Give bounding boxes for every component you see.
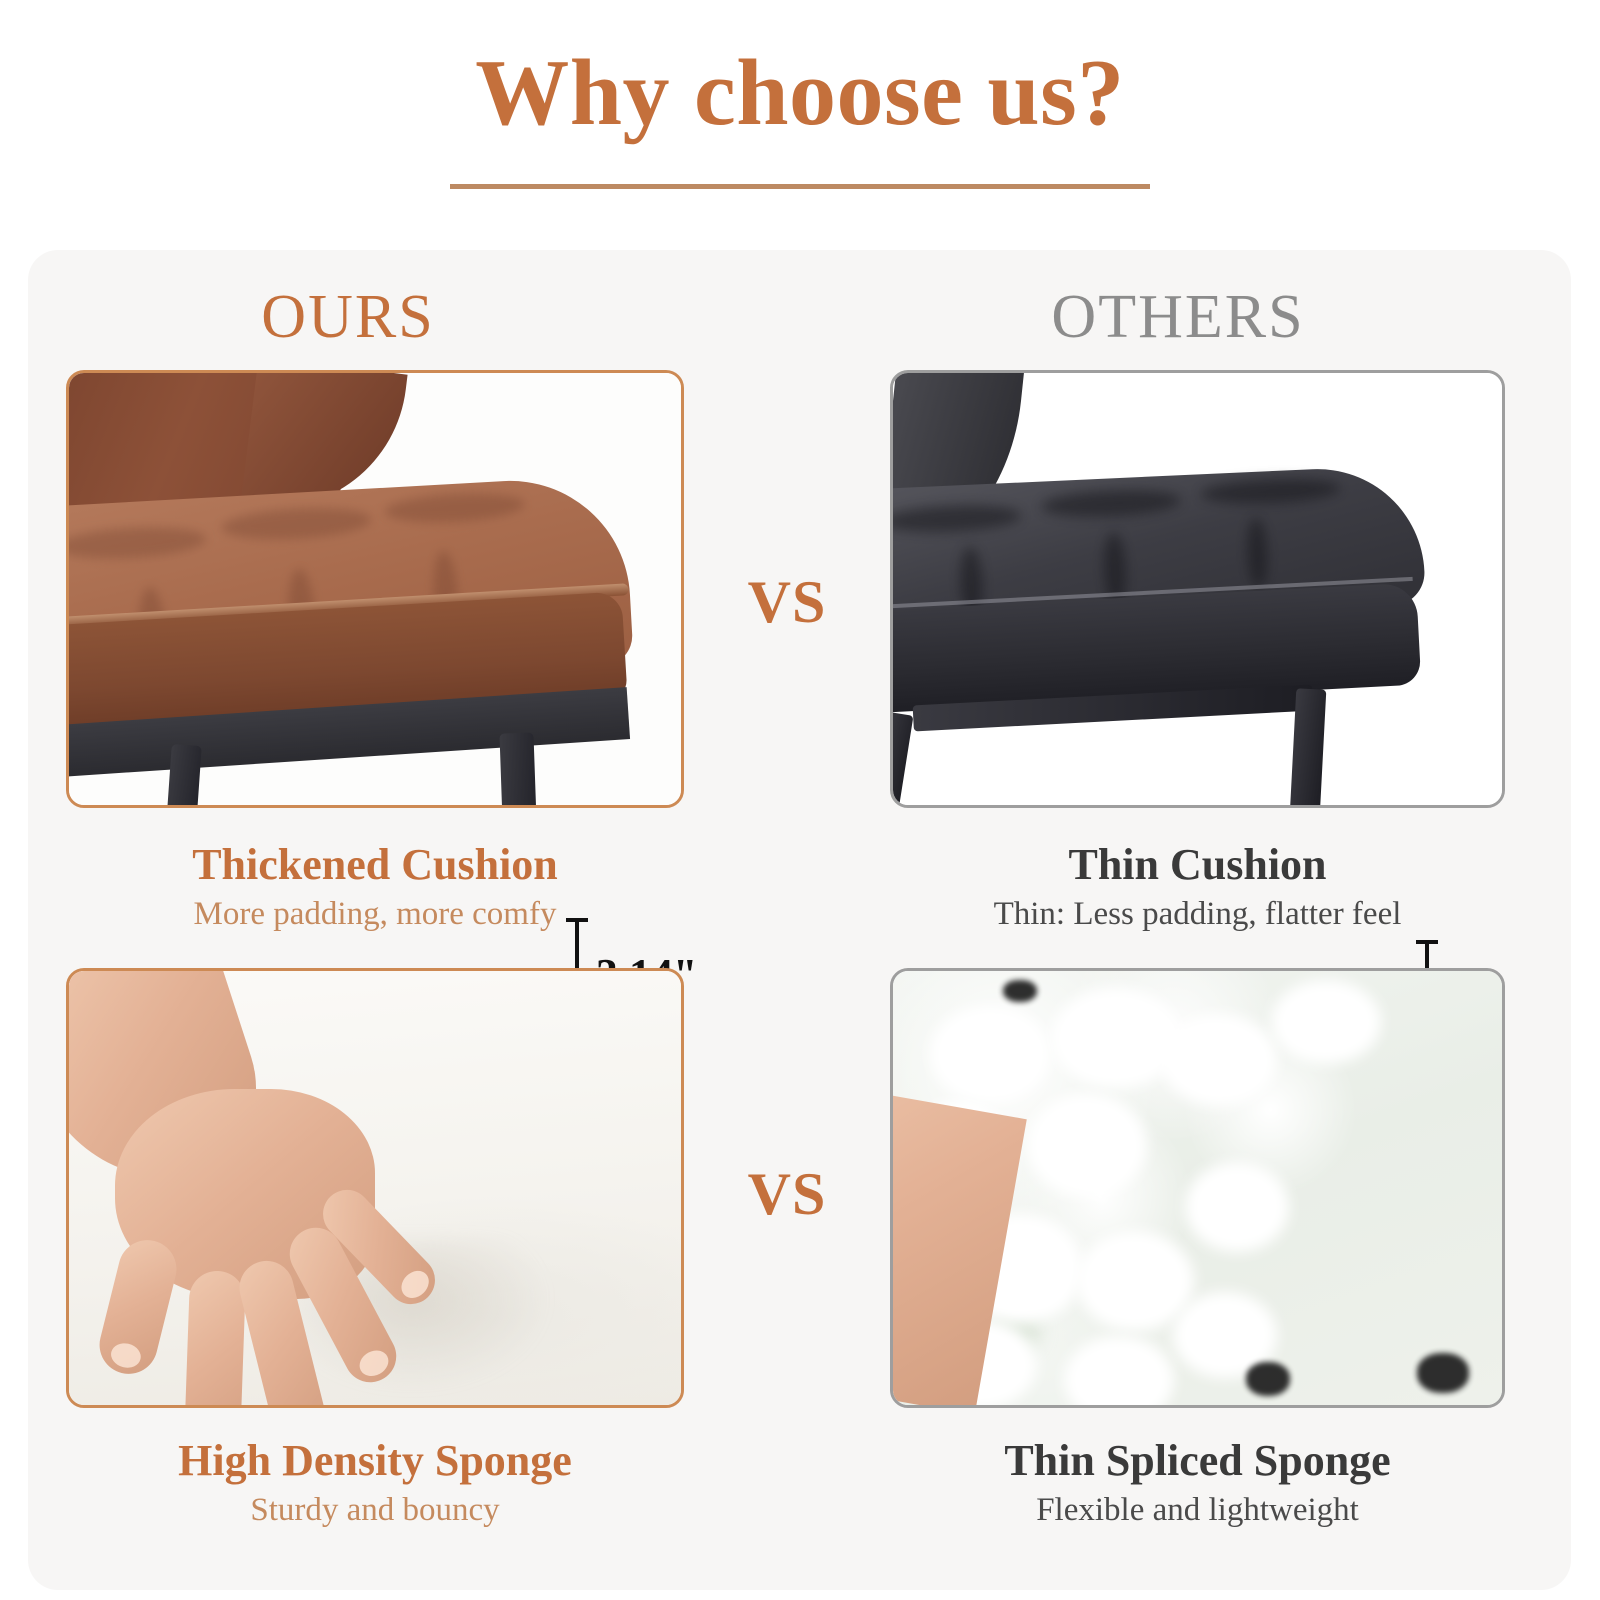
brown-chair-photo <box>69 373 681 805</box>
others-cushion-subtitle: Thin: Less padding, flatter feel <box>890 895 1505 935</box>
ours-sponge-subtitle: Sturdy and bouncy <box>66 1491 684 1531</box>
others-cushion-image-frame <box>890 370 1505 808</box>
column-header-others: OTHERS <box>858 282 1498 353</box>
ours-cushion-image-frame <box>66 370 684 808</box>
dense-foam-hand-photo <box>69 971 681 1405</box>
comparison-card: OURS OTHERS <box>28 250 1571 1590</box>
others-cushion-title: Thin Cushion <box>890 840 1505 889</box>
others-sponge-image-frame <box>890 968 1505 1408</box>
ours-cushion-caption: Thickened Cushion More padding, more com… <box>66 840 684 935</box>
comparison-row-cushion: 3.14" VS <box>28 370 1571 990</box>
comparison-row-sponge: VS <box>28 968 1571 1568</box>
ours-sponge-caption: High Density Sponge Sturdy and bouncy <box>66 1436 684 1531</box>
black-chair-photo <box>893 373 1502 805</box>
others-cushion-caption: Thin Cushion Thin: Less padding, flatter… <box>890 840 1505 935</box>
why-choose-us-infographic: Why choose us? OURS OTHERS <box>0 0 1600 1600</box>
column-header-ours: OURS <box>28 282 668 353</box>
ours-sponge-image-frame <box>66 968 684 1408</box>
page-title: Why choose us? <box>0 46 1600 140</box>
vs-badge-row2: VS <box>684 1160 890 1229</box>
others-sponge-caption: Thin Spliced Sponge Flexible and lightwe… <box>890 1436 1505 1531</box>
header: Why choose us? <box>0 46 1600 189</box>
others-sponge-title: Thin Spliced Sponge <box>890 1436 1505 1485</box>
title-divider <box>450 184 1150 189</box>
ours-cushion-subtitle: More padding, more comfy <box>66 895 684 935</box>
loose-fiber-hand-photo <box>893 971 1502 1405</box>
ours-sponge-title: High Density Sponge <box>66 1436 684 1485</box>
others-sponge-subtitle: Flexible and lightweight <box>890 1491 1505 1531</box>
ours-cushion-title: Thickened Cushion <box>66 840 684 889</box>
vs-badge-row1: VS <box>684 568 890 637</box>
